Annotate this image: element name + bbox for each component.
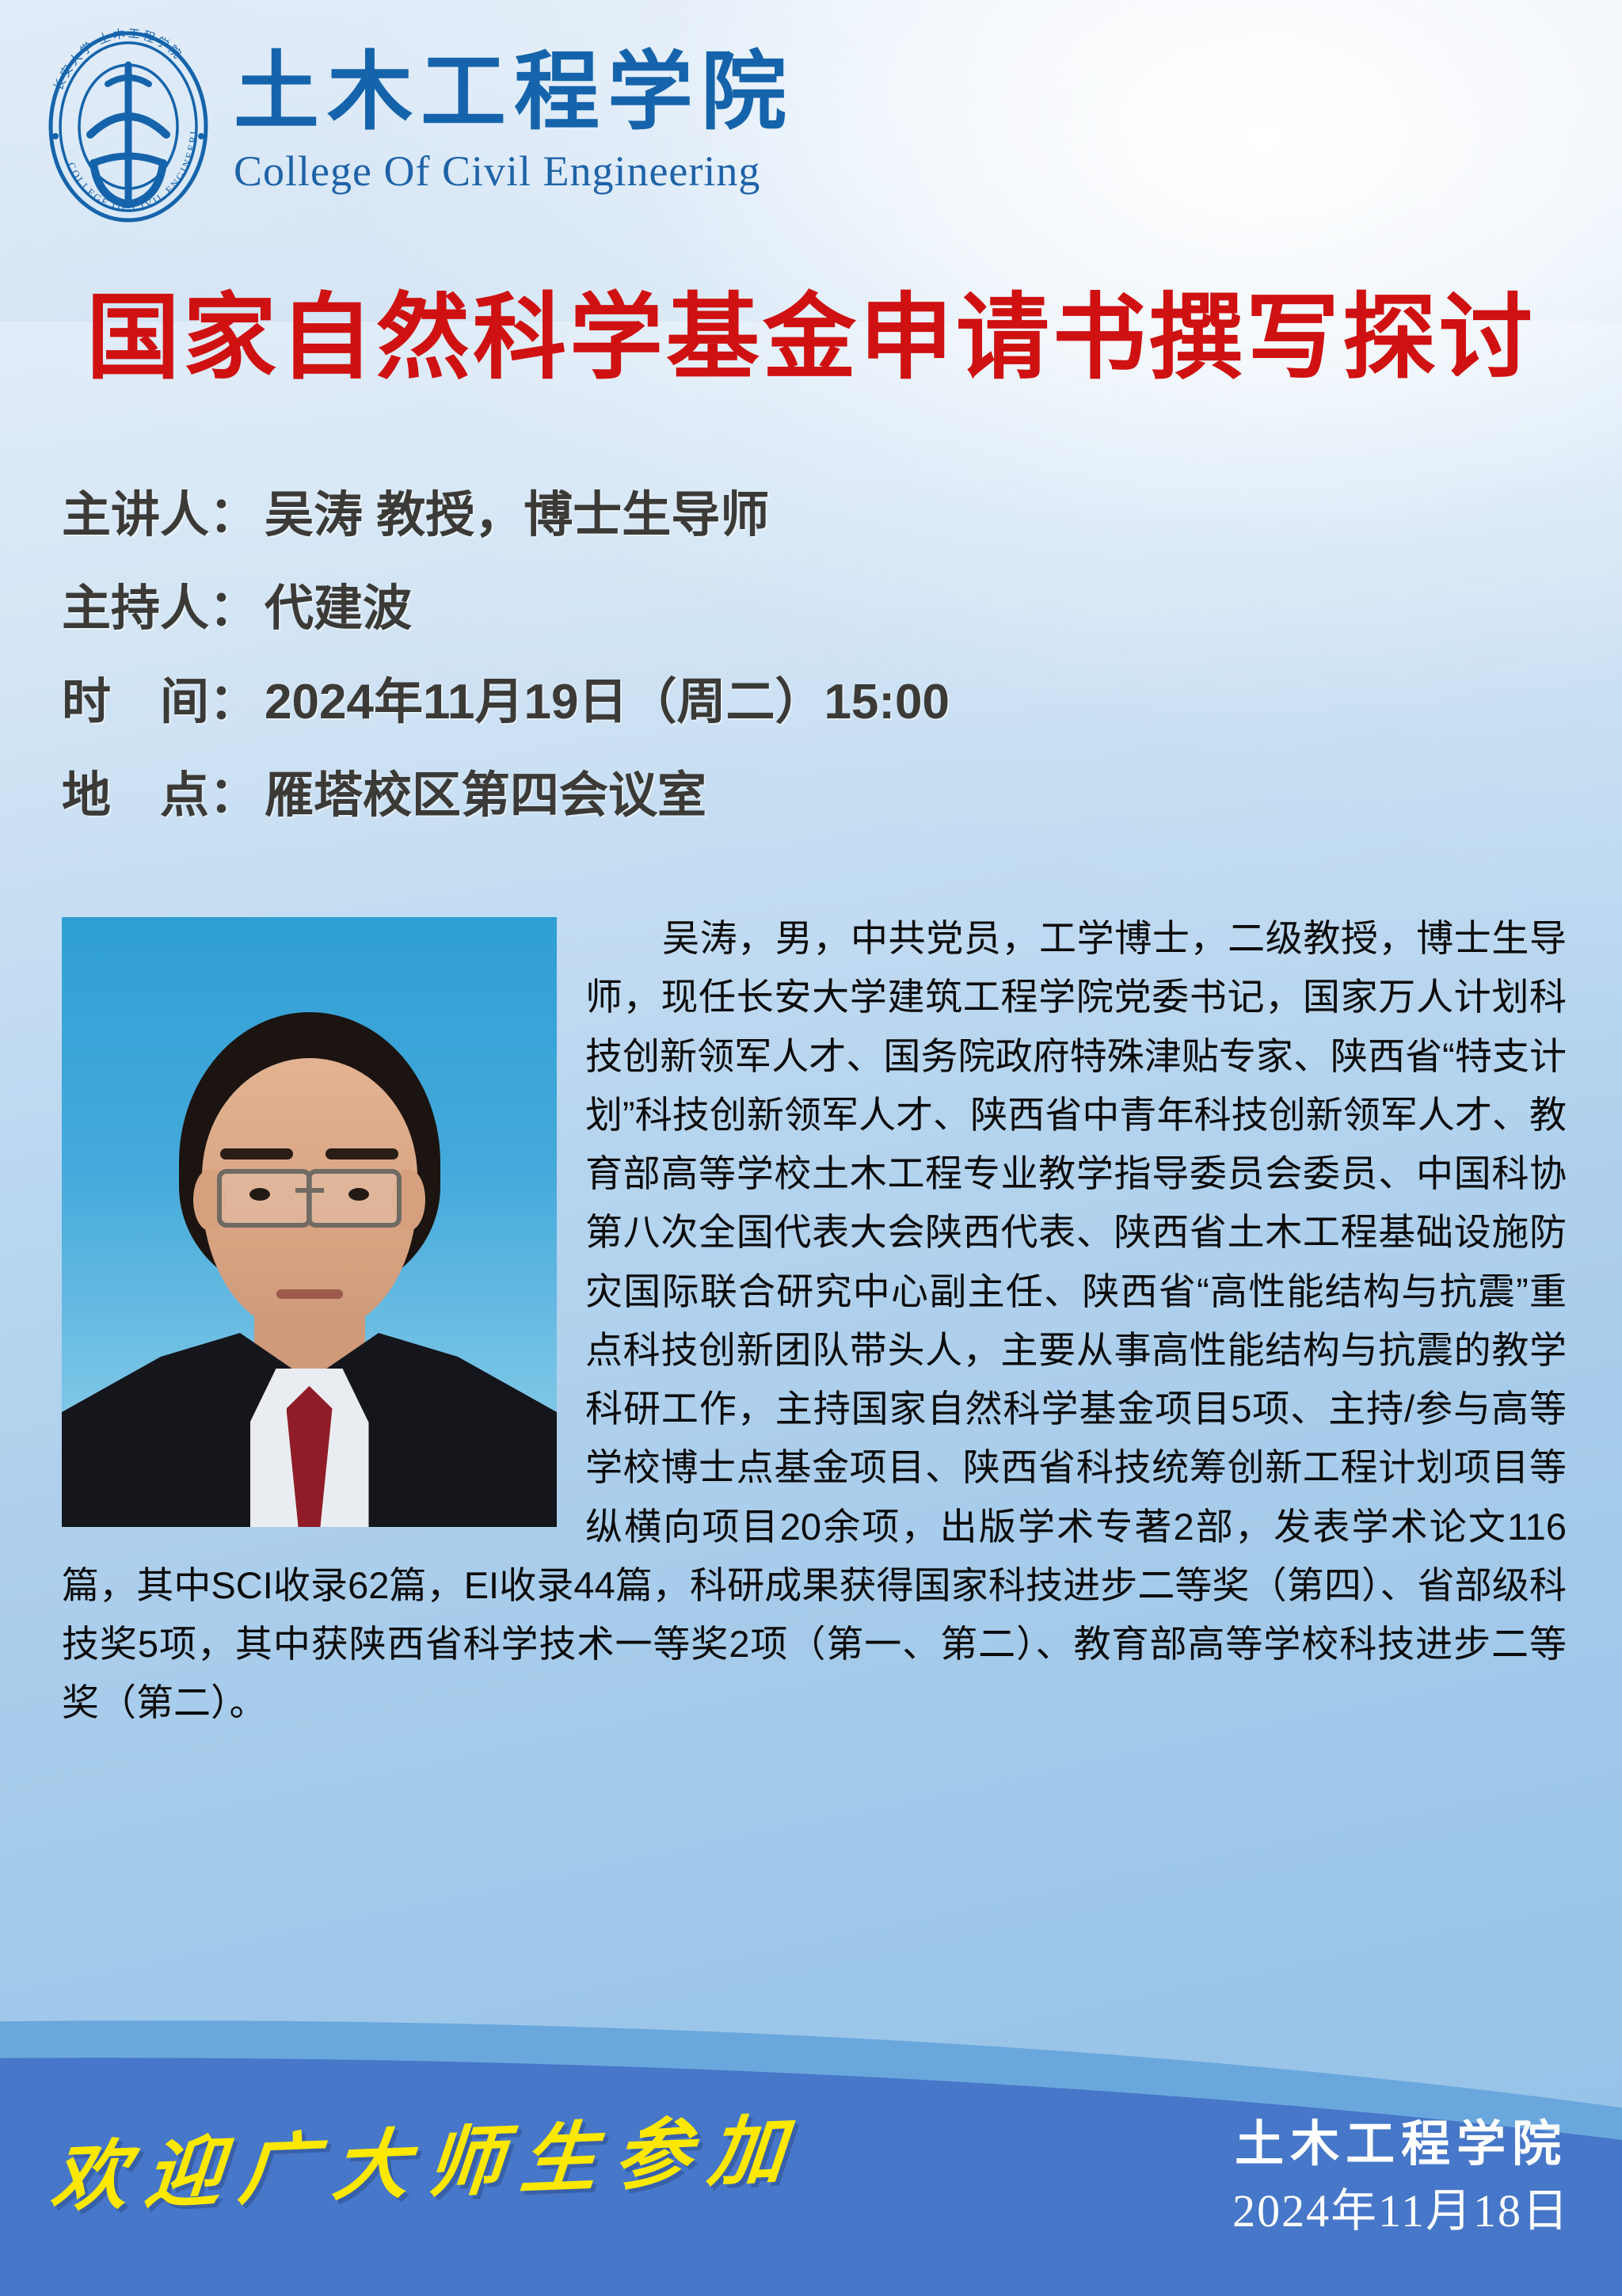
info-row-time: 时 间： 2024年11月19日（周二）15:00	[62, 678, 1329, 727]
portrait-mouth	[276, 1289, 343, 1299]
host-value: 代建波	[265, 584, 412, 634]
time-label: 时 间：	[62, 678, 258, 727]
host-label: 主持人：	[62, 584, 258, 634]
college-seal-logo-icon: COLLEGE OF CIVIL ENGINEERING 长安大学 土木工程学院	[32, 16, 226, 230]
location-label: 地 点：	[62, 771, 258, 821]
poster-header: COLLEGE OF CIVIL ENGINEERING 长安大学 土木工程学院…	[0, 0, 1622, 246]
brand-block: 土木工程学院 College Of Civil Engineering	[234, 48, 794, 198]
info-row-speaker: 主讲人： 吴涛 教授，博士生导师	[62, 491, 1329, 540]
speaker-portrait	[62, 917, 557, 1527]
seminar-poster: COLLEGE OF CIVIL ENGINEERING 长安大学 土木工程学院…	[0, 0, 1622, 2296]
portrait-brow-right	[326, 1148, 398, 1159]
college-name-en: College Of Civil Engineering	[234, 145, 794, 199]
footer-signature: 土木工程学院 2024年11月18日	[1232, 2115, 1570, 2241]
page-title: 国家自然科学基金申请书撰写探讨	[0, 284, 1622, 394]
location-value: 雁塔校区第四会议室	[265, 771, 706, 821]
portrait-glasses-bridge	[295, 1188, 324, 1193]
speaker-label: 主讲人：	[62, 491, 258, 540]
portrait-eye-left	[249, 1188, 270, 1201]
speaker-value: 吴涛 教授，博士生导师	[265, 491, 769, 540]
portrait-brow-left	[220, 1148, 293, 1159]
college-name-cn: 土木工程学院	[234, 48, 794, 140]
event-info-list: 主讲人： 吴涛 教授，博士生导师 主持人： 代建波 时 间： 2024年11月1…	[62, 491, 1329, 865]
svg-text:长安大学 土木工程学院: 长安大学 土木工程学院	[51, 27, 185, 93]
portrait-eye-right	[348, 1188, 369, 1201]
speaker-bio-block: 吴涛，男，中共党员，工学博士，二级教授，博士生导师，现任长安大学建筑工程学院党委…	[62, 909, 1567, 1733]
footer-org-name: 土木工程学院	[1232, 2115, 1570, 2176]
poster-footer: 欢迎广大师生参加 土木工程学院 2024年11月18日	[0, 1924, 1622, 2296]
info-row-location: 地 点： 雁塔校区第四会议室	[62, 771, 1329, 821]
info-row-host: 主持人： 代建波	[62, 584, 1329, 634]
footer-date: 2024年11月18日	[1232, 2181, 1570, 2241]
time-value: 2024年11月19日（周二）15:00	[265, 678, 950, 727]
